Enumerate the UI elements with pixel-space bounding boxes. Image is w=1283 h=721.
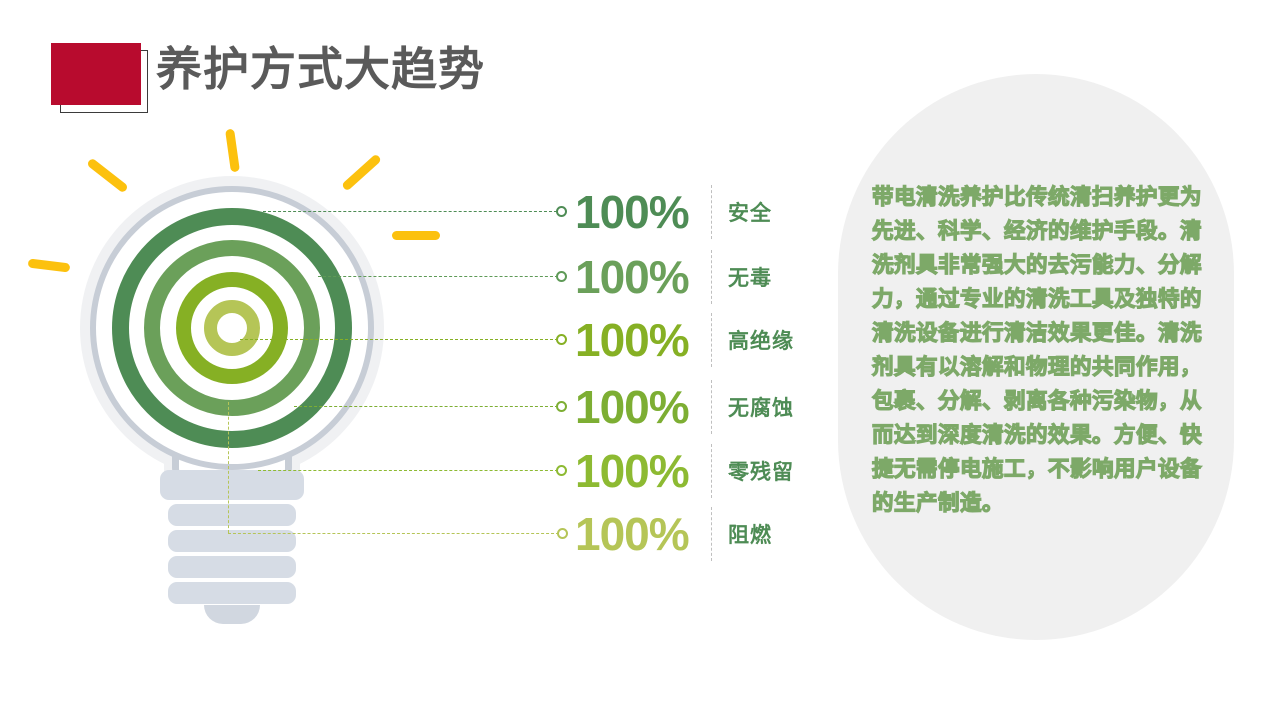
- stat-label: 零残留: [728, 456, 794, 486]
- ray-right: [392, 231, 440, 240]
- stat-value: 100%: [575, 252, 707, 302]
- stat-value: 100%: [575, 509, 707, 559]
- bulb-base-bar-4: [168, 556, 296, 578]
- bulb-base-bar-1: [160, 470, 304, 500]
- ray-top: [225, 129, 240, 173]
- connector-dot-1: [556, 206, 567, 217]
- connector-line-3: [240, 339, 558, 340]
- stat-value: 100%: [575, 187, 707, 237]
- stat-row-nontoxic[interactable]: 100% 无毒: [575, 248, 825, 306]
- connector-dot-2: [556, 271, 567, 282]
- connector-line-6: [228, 533, 559, 534]
- stat-row-safety[interactable]: 100% 安全: [575, 183, 825, 241]
- stat-row-noncorrosive[interactable]: 100% 无腐蚀: [575, 378, 825, 436]
- stat-row-insulation[interactable]: 100% 高绝缘: [575, 311, 825, 369]
- stat-label: 高绝缘: [728, 325, 794, 355]
- stat-divider: [711, 507, 712, 561]
- stat-value: 100%: [575, 382, 707, 432]
- stat-divider: [711, 313, 712, 367]
- connector-dot-5: [556, 465, 567, 476]
- ray-left: [28, 258, 71, 272]
- stat-label: 无腐蚀: [728, 392, 794, 422]
- stat-label: 无毒: [728, 262, 772, 292]
- title-decor-red-square: [51, 43, 141, 105]
- stat-divider: [711, 185, 712, 239]
- stat-row-noresidue[interactable]: 100% 零残留: [575, 442, 825, 500]
- title-block: 养护方式大趋势: [0, 0, 520, 130]
- stats-list: 100% 安全 100% 无毒 100% 高绝缘 100% 无腐蚀 100% 零…: [575, 175, 825, 575]
- connector-line-2: [318, 276, 558, 277]
- connector-line-1: [263, 211, 557, 212]
- stat-divider: [711, 250, 712, 304]
- stat-divider: [711, 380, 712, 434]
- bulb-base-bar-5: [168, 582, 296, 604]
- lightbulb-icon: [72, 168, 392, 588]
- connector-line-6-vertical: [228, 402, 229, 533]
- info-panel-body: 带电清洗养护比传统清扫养护更为先进、科学、经济的维护手段。清洗剂具非常强大的去污…: [872, 180, 1202, 520]
- bulb-ring-inner: [204, 300, 260, 356]
- bulb-base-bar-2: [168, 504, 296, 526]
- connector-line-5: [258, 470, 558, 471]
- stat-row-flameretardant[interactable]: 100% 阻燃: [575, 505, 825, 563]
- connector-dot-3: [556, 334, 567, 345]
- stat-value: 100%: [575, 446, 707, 496]
- stat-divider: [711, 444, 712, 498]
- bulb-base-cap: [204, 605, 260, 624]
- page-title: 养护方式大趋势: [156, 40, 485, 98]
- connector-line-4: [294, 406, 558, 407]
- connector-dot-4: [556, 401, 567, 412]
- connector-dot-6: [557, 528, 568, 539]
- stat-label: 安全: [728, 197, 772, 227]
- stat-value: 100%: [575, 315, 707, 365]
- stat-label: 阻燃: [728, 519, 772, 549]
